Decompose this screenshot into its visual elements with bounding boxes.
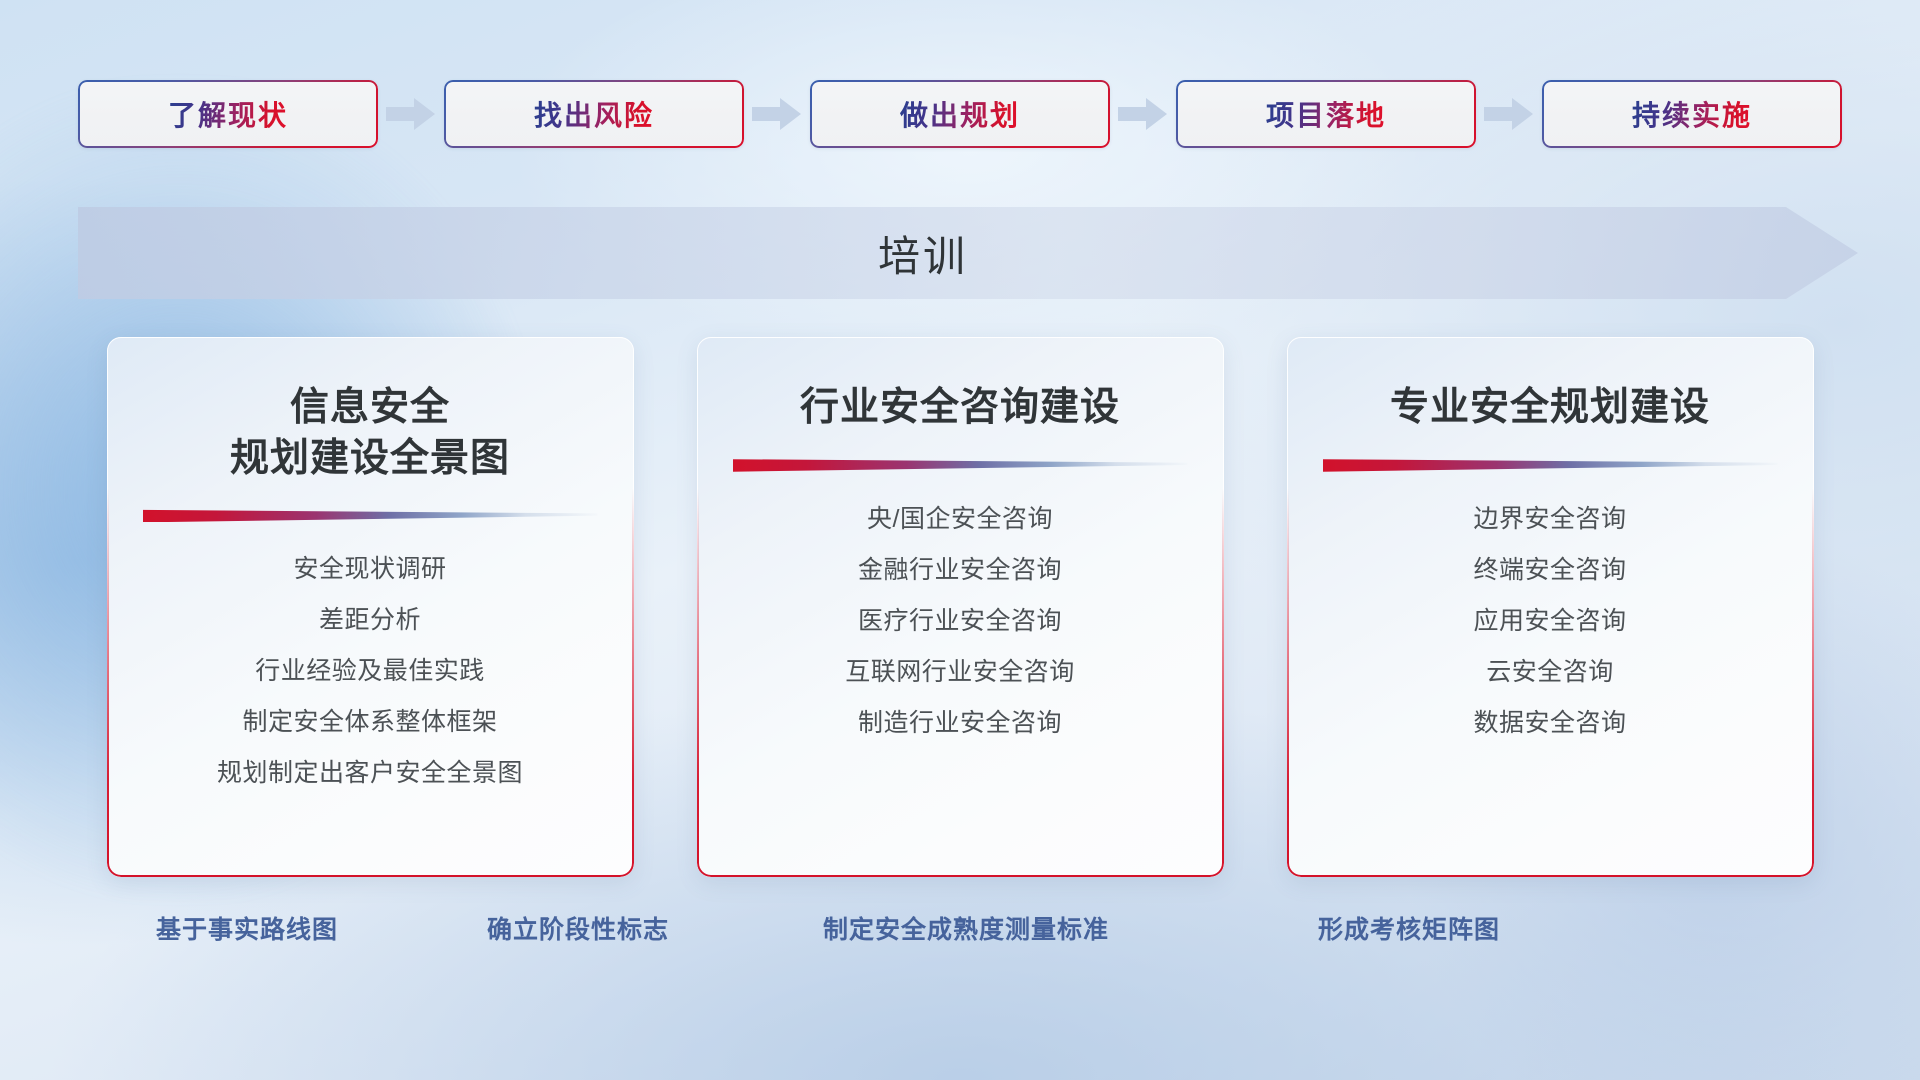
list-item[interactable]: 规划制定出客户安全全景图: [217, 748, 523, 799]
list-item[interactable]: 云安全咨询: [1486, 647, 1614, 698]
process-step-4[interactable]: 项目落地: [1176, 80, 1476, 148]
list-item[interactable]: 央/国企安全咨询: [867, 494, 1053, 545]
list-item[interactable]: 数据安全咨询: [1473, 698, 1626, 749]
list-item[interactable]: 医疗行业安全咨询: [858, 596, 1062, 647]
right-arrow-icon: [1476, 94, 1542, 134]
list-item[interactable]: 终端安全咨询: [1473, 545, 1626, 596]
process-step-2[interactable]: 找出风险: [444, 80, 744, 148]
right-arrow-icon: [744, 94, 810, 134]
content-card-3[interactable]: 专业安全规划建设边界安全咨询终端安全咨询应用安全咨询云安全咨询数据安全咨询: [1287, 337, 1814, 877]
card-item-list: 安全现状调研差距分析行业经验及最佳实践制定安全体系整体框架规划制定出客户安全全景…: [133, 544, 608, 799]
background-glow-top: [520, 0, 1420, 360]
process-step-label: 做出规划: [900, 94, 1020, 134]
list-item[interactable]: 安全现状调研: [293, 544, 446, 595]
list-item[interactable]: 差距分析: [319, 595, 421, 646]
list-item[interactable]: 制造行业安全咨询: [858, 698, 1062, 749]
training-banner: 培训: [78, 207, 1858, 299]
footer-caption-4: 形成考核矩阵图: [1318, 910, 1500, 946]
card-body: 行业安全咨询建设央/国企安全咨询金融行业安全咨询医疗行业安全咨询互联网行业安全咨…: [723, 337, 1198, 877]
card-item-list: 央/国企安全咨询金融行业安全咨询医疗行业安全咨询互联网行业安全咨询制造行业安全咨…: [723, 494, 1198, 749]
card-item-list: 边界安全咨询终端安全咨询应用安全咨询云安全咨询数据安全咨询: [1313, 494, 1788, 749]
right-arrow-icon: [1110, 94, 1176, 134]
list-item[interactable]: 边界安全咨询: [1473, 494, 1626, 545]
process-step-label: 找出风险: [534, 94, 654, 134]
right-arrow-icon: [378, 94, 444, 134]
process-step-1[interactable]: 了解现状: [78, 80, 378, 148]
list-item[interactable]: 制定安全体系整体框架: [242, 697, 497, 748]
card-body: 信息安全 规划建设全景图安全现状调研差距分析行业经验及最佳实践制定安全体系整体框…: [133, 337, 608, 877]
card-divider: [143, 506, 598, 522]
card-title: 信息安全 规划建设全景图: [230, 383, 510, 484]
process-step-label: 项目落地: [1266, 94, 1386, 134]
process-steps: 了解现状找出风险做出规划项目落地持续实施: [0, 78, 1920, 150]
list-item[interactable]: 金融行业安全咨询: [858, 545, 1062, 596]
footer-caption-3: 制定安全成熟度测量标准: [823, 910, 1109, 946]
card-title: 专业安全规划建设: [1390, 383, 1710, 434]
card-divider: [1323, 456, 1778, 472]
footer-caption-2: 确立阶段性标志: [487, 910, 669, 946]
content-cards: 信息安全 规划建设全景图安全现状调研差距分析行业经验及最佳实践制定安全体系整体框…: [0, 337, 1920, 877]
slide-canvas: 了解现状找出风险做出规划项目落地持续实施 培训 信息安全 规划建设全景图安全现状…: [0, 0, 1920, 1080]
list-item[interactable]: 行业经验及最佳实践: [255, 646, 485, 697]
card-divider: [733, 456, 1188, 472]
process-step-3[interactable]: 做出规划: [810, 80, 1110, 148]
content-card-2[interactable]: 行业安全咨询建设央/国企安全咨询金融行业安全咨询医疗行业安全咨询互联网行业安全咨…: [697, 337, 1224, 877]
footer-caption-1: 基于事实路线图: [156, 910, 338, 946]
card-body: 专业安全规划建设边界安全咨询终端安全咨询应用安全咨询云安全咨询数据安全咨询: [1313, 337, 1788, 877]
card-title: 行业安全咨询建设: [800, 383, 1120, 434]
process-step-5[interactable]: 持续实施: [1542, 80, 1842, 148]
list-item[interactable]: 互联网行业安全咨询: [845, 647, 1075, 698]
footer-captions: 基于事实路线图确立阶段性标志制定安全成熟度测量标准形成考核矩阵图: [0, 910, 1920, 962]
process-step-label: 持续实施: [1632, 94, 1752, 134]
content-card-1[interactable]: 信息安全 规划建设全景图安全现状调研差距分析行业经验及最佳实践制定安全体系整体框…: [107, 337, 634, 877]
list-item[interactable]: 应用安全咨询: [1473, 596, 1626, 647]
process-step-label: 了解现状: [168, 94, 288, 134]
banner-title: 培训: [78, 207, 1858, 299]
